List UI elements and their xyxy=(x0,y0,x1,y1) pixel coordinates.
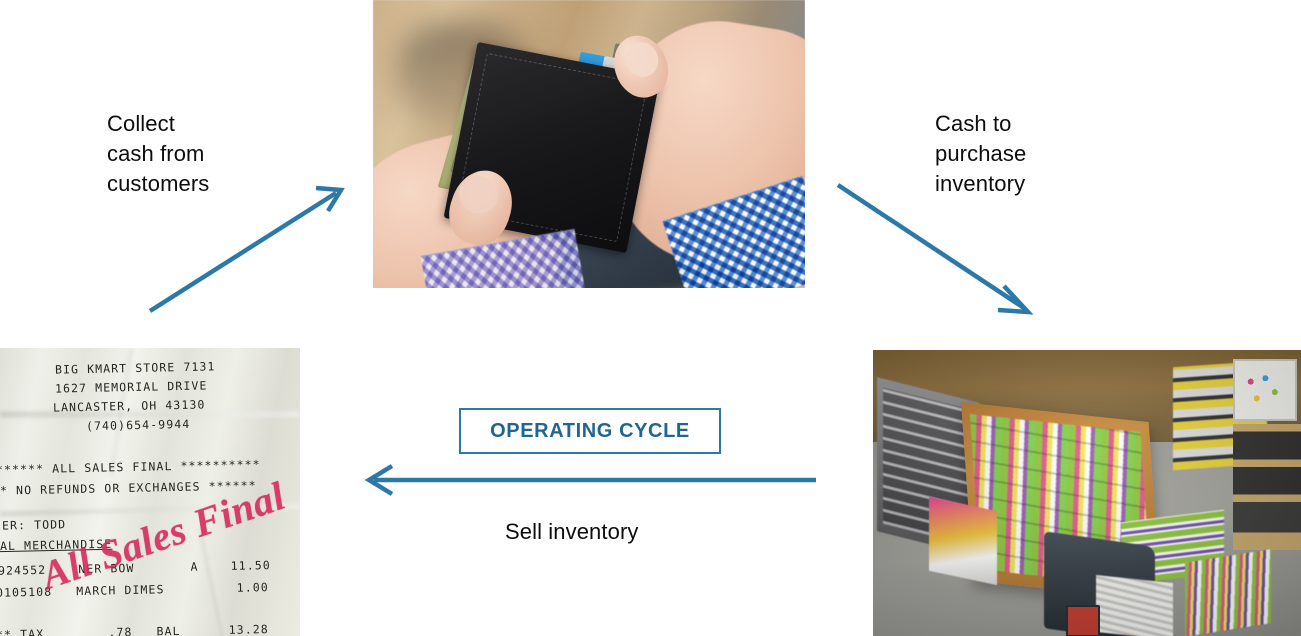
label-sell-inventory: Sell inventory xyxy=(505,517,638,547)
photo-cash-wallet xyxy=(373,0,805,288)
photo-retail-store xyxy=(873,350,1301,636)
arrow-collect-cash xyxy=(150,188,341,311)
operating-cycle-diagram: BIG KMART STORE 7131 1627 MEMORIAL DRIVE… xyxy=(0,0,1301,636)
label-collect-cash-from-customers: Collect cash from customers xyxy=(107,109,209,199)
operating-cycle-title-text: OPERATING CYCLE xyxy=(490,420,690,443)
operating-cycle-title-box: OPERATING CYCLE xyxy=(459,408,721,454)
store-lighting-overlay xyxy=(873,350,1301,636)
receipt-crease-1 xyxy=(0,412,300,417)
arrow-sell-inventory xyxy=(369,466,816,494)
label-cash-to-purchase-inventory: Cash to purchase inventory xyxy=(935,109,1026,199)
photo-sales-receipt: BIG KMART STORE 7131 1627 MEMORIAL DRIVE… xyxy=(0,348,300,636)
receipt-line-phone: (740)654-9944 xyxy=(86,417,191,433)
receipt-line-cashier: IER: TODD xyxy=(0,517,66,533)
arrow-cash-to-purchase xyxy=(838,185,1028,312)
